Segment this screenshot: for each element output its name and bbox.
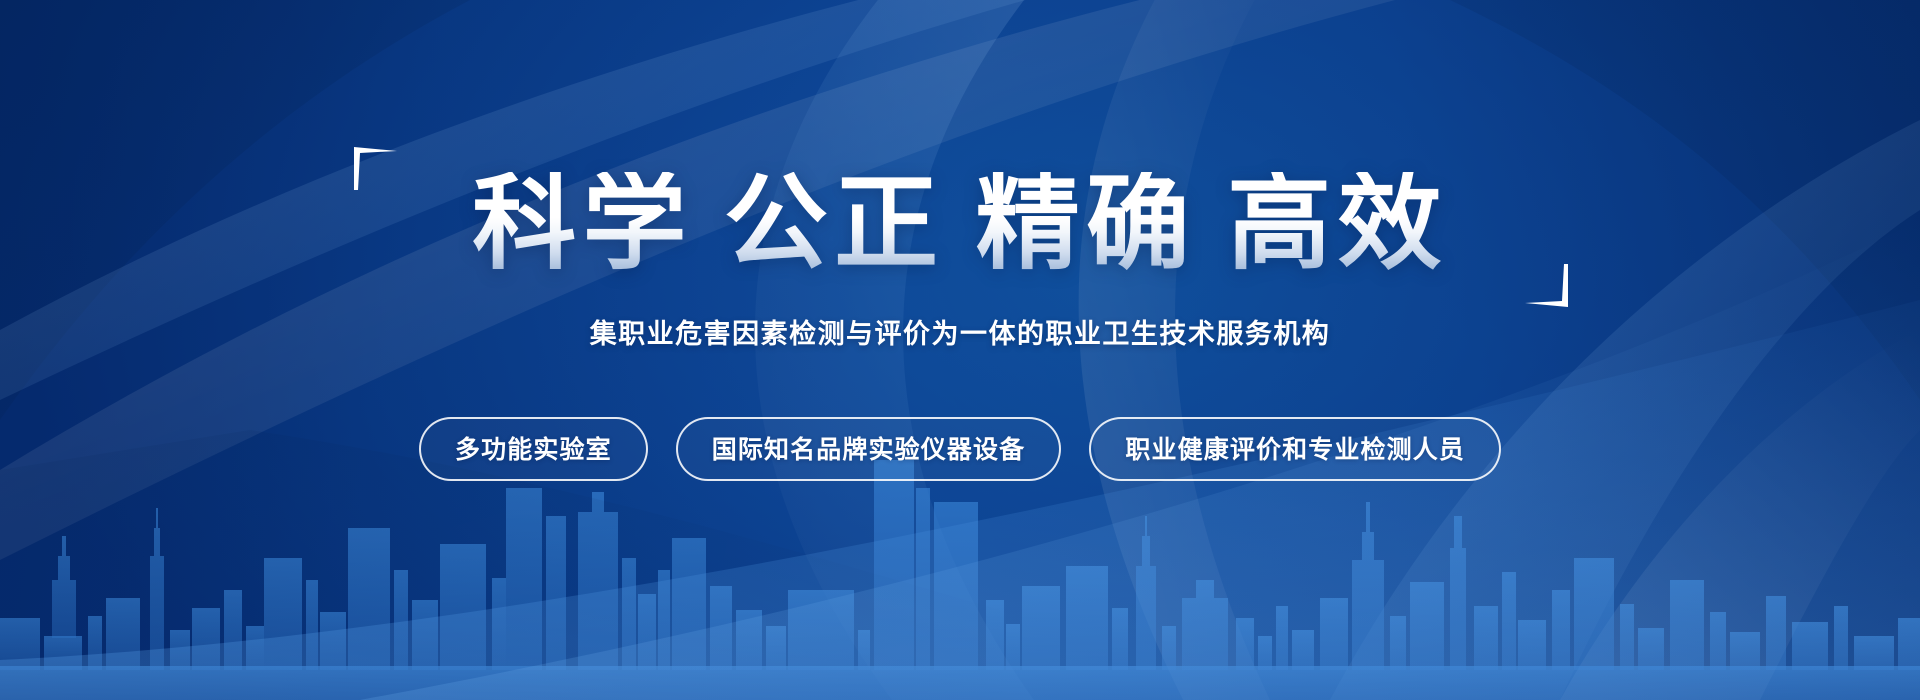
feature-pill-lab[interactable]: 多功能实验室 (419, 417, 648, 481)
corner-bracket-bottom-right-icon (1524, 264, 1570, 310)
page-title: 科学公正精确高效 (472, 172, 1448, 276)
headline-word-2: 公正 (724, 166, 944, 282)
headline-word-4: 高效 (1227, 166, 1447, 282)
headline-word-1: 科学 (472, 166, 692, 282)
headline-block: 科学公正精确高效 (370, 172, 1550, 276)
headline-word-3: 精确 (976, 166, 1196, 282)
feature-pill-row: 多功能实验室 国际知名品牌实验仪器设备 职业健康评价和专业检测人员 (419, 417, 1501, 481)
corner-bracket-top-left-icon (352, 144, 398, 190)
hero-banner: 科学公正精确高效 集职业危害因素检测与评价为一体的职业卫生技术服务机构 多功能实… (0, 0, 1920, 700)
feature-pill-equipment[interactable]: 国际知名品牌实验仪器设备 (676, 417, 1062, 481)
page-subtitle: 集职业危害因素检测与评价为一体的职业卫生技术服务机构 (590, 312, 1331, 351)
feature-pill-staff[interactable]: 职业健康评价和专业检测人员 (1089, 417, 1501, 481)
banner-content: 科学公正精确高效 集职业危害因素检测与评价为一体的职业卫生技术服务机构 多功能实… (0, 0, 1920, 700)
